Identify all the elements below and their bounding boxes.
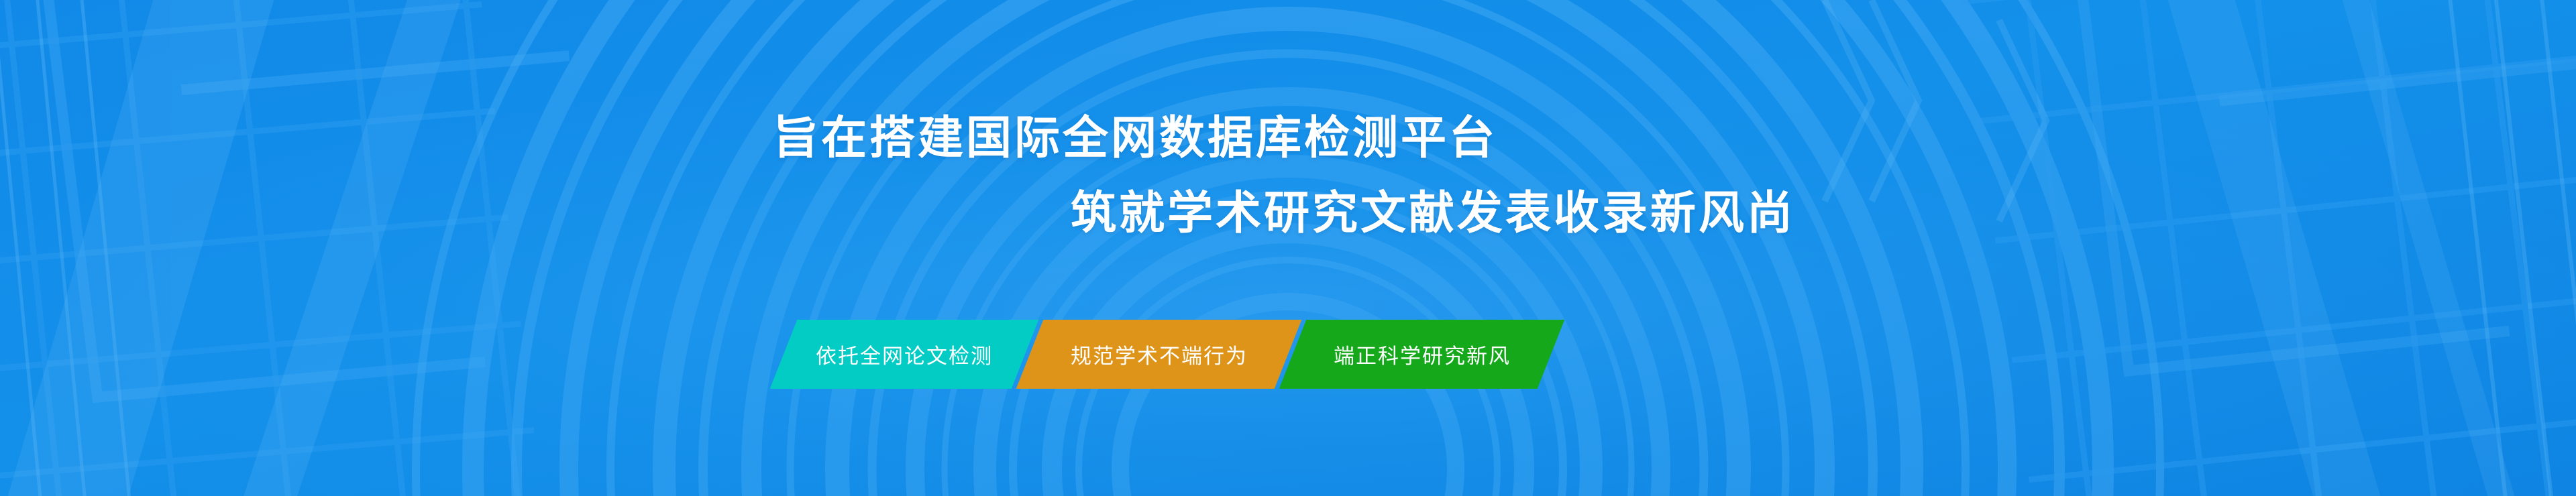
headline-line-2: 筑就学术研究文献发表收录新风尚 bbox=[0, 176, 2576, 251]
promo-banner: 旨在搭建国际全网数据库检测平台 筑就学术研究文献发表收录新风尚 依托全网论文检测… bbox=[0, 0, 2576, 496]
feature-tag-3-label: 端正科学研究新风 bbox=[1334, 339, 1511, 369]
feature-tag-strip: 依托全网论文检测 规范学术不端行为 端正科学研究新风 bbox=[784, 320, 1551, 389]
headline-line-1: 旨在搭建国际全网数据库检测平台 bbox=[0, 101, 2576, 176]
feature-tag-1-label: 依托全网论文检测 bbox=[816, 339, 993, 369]
headline-block: 旨在搭建国际全网数据库检测平台 筑就学术研究文献发表收录新风尚 bbox=[0, 101, 2576, 251]
feature-tag-1[interactable]: 依托全网论文检测 bbox=[770, 320, 1039, 389]
feature-tag-2-label: 规范学术不端行为 bbox=[1071, 339, 1248, 369]
feature-tag-3[interactable]: 端正科学研究新风 bbox=[1279, 320, 1565, 389]
feature-tag-2[interactable]: 规范学术不端行为 bbox=[1016, 320, 1302, 389]
